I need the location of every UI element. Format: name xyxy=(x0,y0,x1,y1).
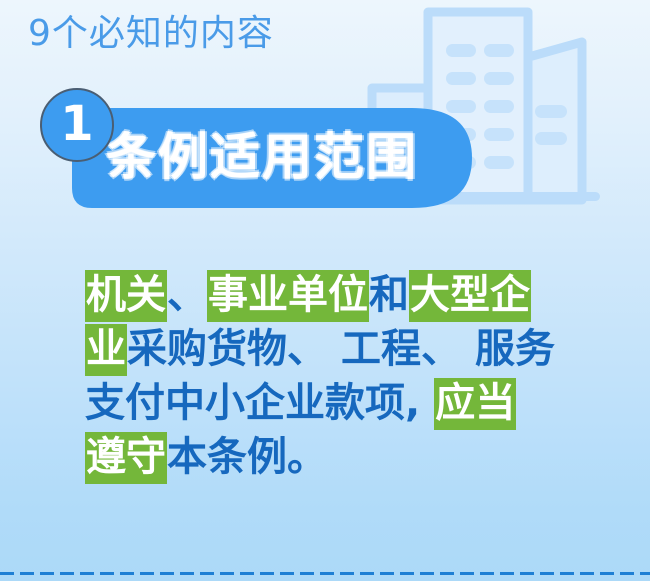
section-title: 条例适用范围 xyxy=(106,124,418,190)
body-text: 支付中小企业款项, xyxy=(85,380,420,426)
page-title: 9个必知的内容 xyxy=(28,12,274,56)
body-text: 服务 xyxy=(475,326,555,372)
poster-canvas: 9个必知的内容 条例适用范围 1 机关、事业单位和大型企业采购货物、工程、服务支… xyxy=(0,0,650,581)
body-line: 业采购货物、工程、服务 xyxy=(85,322,585,376)
highlighted-text: 机关 xyxy=(85,270,167,322)
highlighted-text: 应当 xyxy=(434,378,516,430)
dashed-divider xyxy=(0,572,650,575)
body-text: 采购货物、 xyxy=(127,326,327,372)
step-number-badge: 1 xyxy=(40,88,114,162)
highlighted-text: 业 xyxy=(85,324,127,376)
section-banner: 条例适用范围 xyxy=(72,108,472,208)
body-text: 工程、 xyxy=(341,326,461,372)
body-text: 本条例。 xyxy=(167,434,327,480)
body-text: 和 xyxy=(369,272,409,318)
highlighted-text: 大型企 xyxy=(409,270,531,322)
body-line: 机关、事业单位和大型企 xyxy=(85,268,585,322)
step-number-label: 1 xyxy=(60,100,93,148)
body-line: 支付中小企业款项,应当 xyxy=(85,376,585,430)
highlighted-text: 事业单位 xyxy=(207,270,369,322)
body-text: 、 xyxy=(167,272,207,318)
body-paragraph: 机关、事业单位和大型企业采购货物、工程、服务支付中小企业款项,应当遵守本条例。 xyxy=(85,268,585,484)
highlighted-text: 遵守 xyxy=(85,432,167,484)
body-line: 遵守本条例。 xyxy=(85,430,585,484)
